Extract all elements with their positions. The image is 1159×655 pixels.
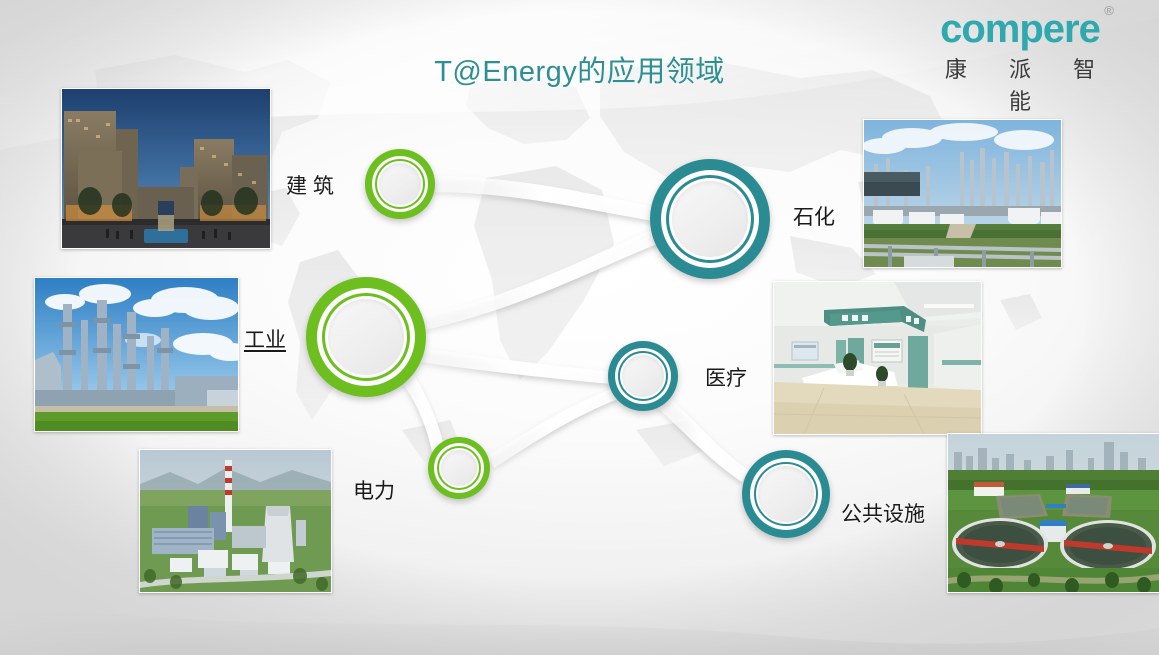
label-power: 电力 — [353, 475, 395, 505]
label-medical: 医疗 — [705, 362, 747, 392]
node-medical[interactable] — [608, 341, 678, 411]
label-public: 公共设施 — [841, 498, 925, 528]
industry-photo — [34, 277, 239, 432]
logo-wordmark-text: compere — [940, 7, 1100, 51]
label-industry: 工业 — [244, 324, 286, 354]
label-petrochem: 石化 — [793, 201, 835, 231]
medical-photo — [773, 281, 982, 435]
public-photo — [947, 433, 1159, 593]
architecture-photo — [61, 88, 271, 249]
petrochem-photo — [863, 119, 1062, 268]
registered-trademark-icon: ® — [1104, 4, 1114, 18]
brand-logo: compere ® 康 派 智 能 — [897, 8, 1143, 116]
label-architecture: 建 筑 — [286, 170, 334, 200]
node-public[interactable] — [742, 450, 830, 538]
node-power[interactable] — [428, 437, 490, 499]
node-public-core — [758, 466, 814, 522]
logo-chinese-name: 康 派 智 能 — [897, 52, 1143, 116]
node-medical-core — [622, 355, 664, 397]
node-petrochem[interactable] — [650, 159, 770, 279]
node-power-core — [441, 450, 477, 486]
node-industry[interactable] — [306, 277, 426, 397]
logo-wordmark: compere ® — [940, 8, 1100, 50]
node-industry-core — [328, 299, 404, 375]
power-photo — [139, 449, 332, 593]
node-architecture-core — [379, 163, 421, 205]
node-petrochem-core — [672, 181, 748, 257]
slide-canvas: 建 筑 工业 电力 石化 医疗 公共设施 T@Energy的应用领域 compe… — [0, 0, 1159, 655]
node-architecture[interactable] — [365, 149, 435, 219]
